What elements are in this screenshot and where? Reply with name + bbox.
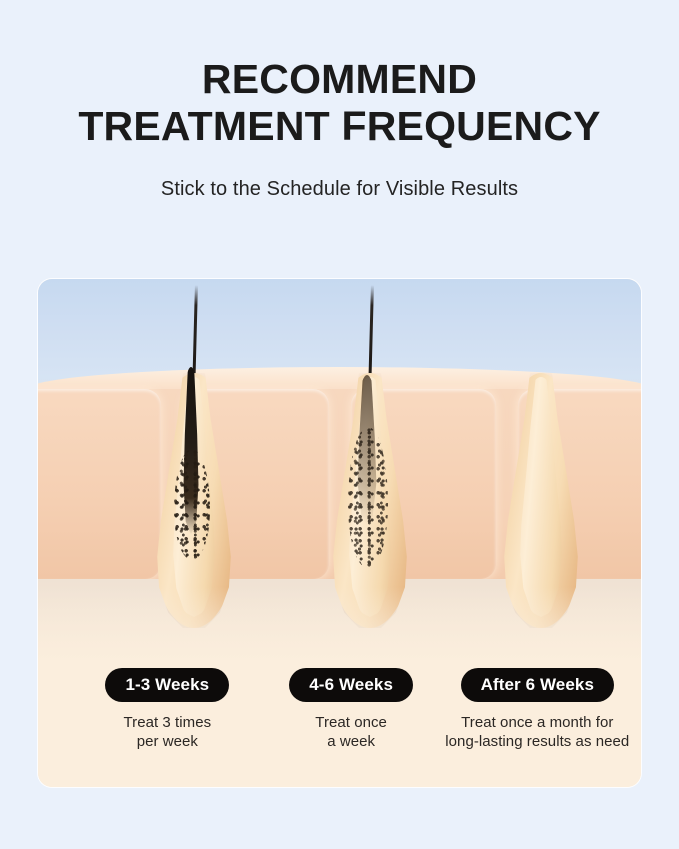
page-title-line-1: RECOMMEND (0, 56, 679, 103)
page-title-line-2: TREATMENT FREQUENCY (0, 103, 679, 150)
schedule-step-3: After 6 Weeks Treat once a month for lon… (434, 668, 641, 751)
schedule-caption-2: Treat once a week (315, 713, 387, 751)
page-subtitle: Stick to the Schedule for Visible Result… (0, 150, 679, 201)
hair-bulb-texture (174, 449, 210, 559)
schedule-badge-1: 1-3 Weeks (105, 668, 229, 702)
schedule-step-2: 4-6 Weeks Treat once a week (269, 668, 434, 751)
page-title: RECOMMEND TREATMENT FREQUENCY (0, 0, 679, 150)
schedule-badge-2: 4-6 Weeks (289, 668, 413, 702)
follicle-sac-inner (515, 377, 567, 617)
schedule-caption-1: Treat 3 times per week (124, 713, 212, 751)
schedule-caption-3: Treat once a month for long-lasting resu… (445, 713, 629, 751)
illustration-card: 1-3 Weeks Treat 3 times per week 4-6 Wee… (38, 279, 641, 787)
schedule-badge-3: After 6 Weeks (461, 668, 614, 702)
page-header: RECOMMEND TREATMENT FREQUENCY Stick to t… (0, 0, 679, 201)
schedule-step-1: 1-3 Weeks Treat 3 times per week (66, 668, 269, 751)
schedule-label-row: 1-3 Weeks Treat 3 times per week 4-6 Wee… (38, 668, 641, 751)
